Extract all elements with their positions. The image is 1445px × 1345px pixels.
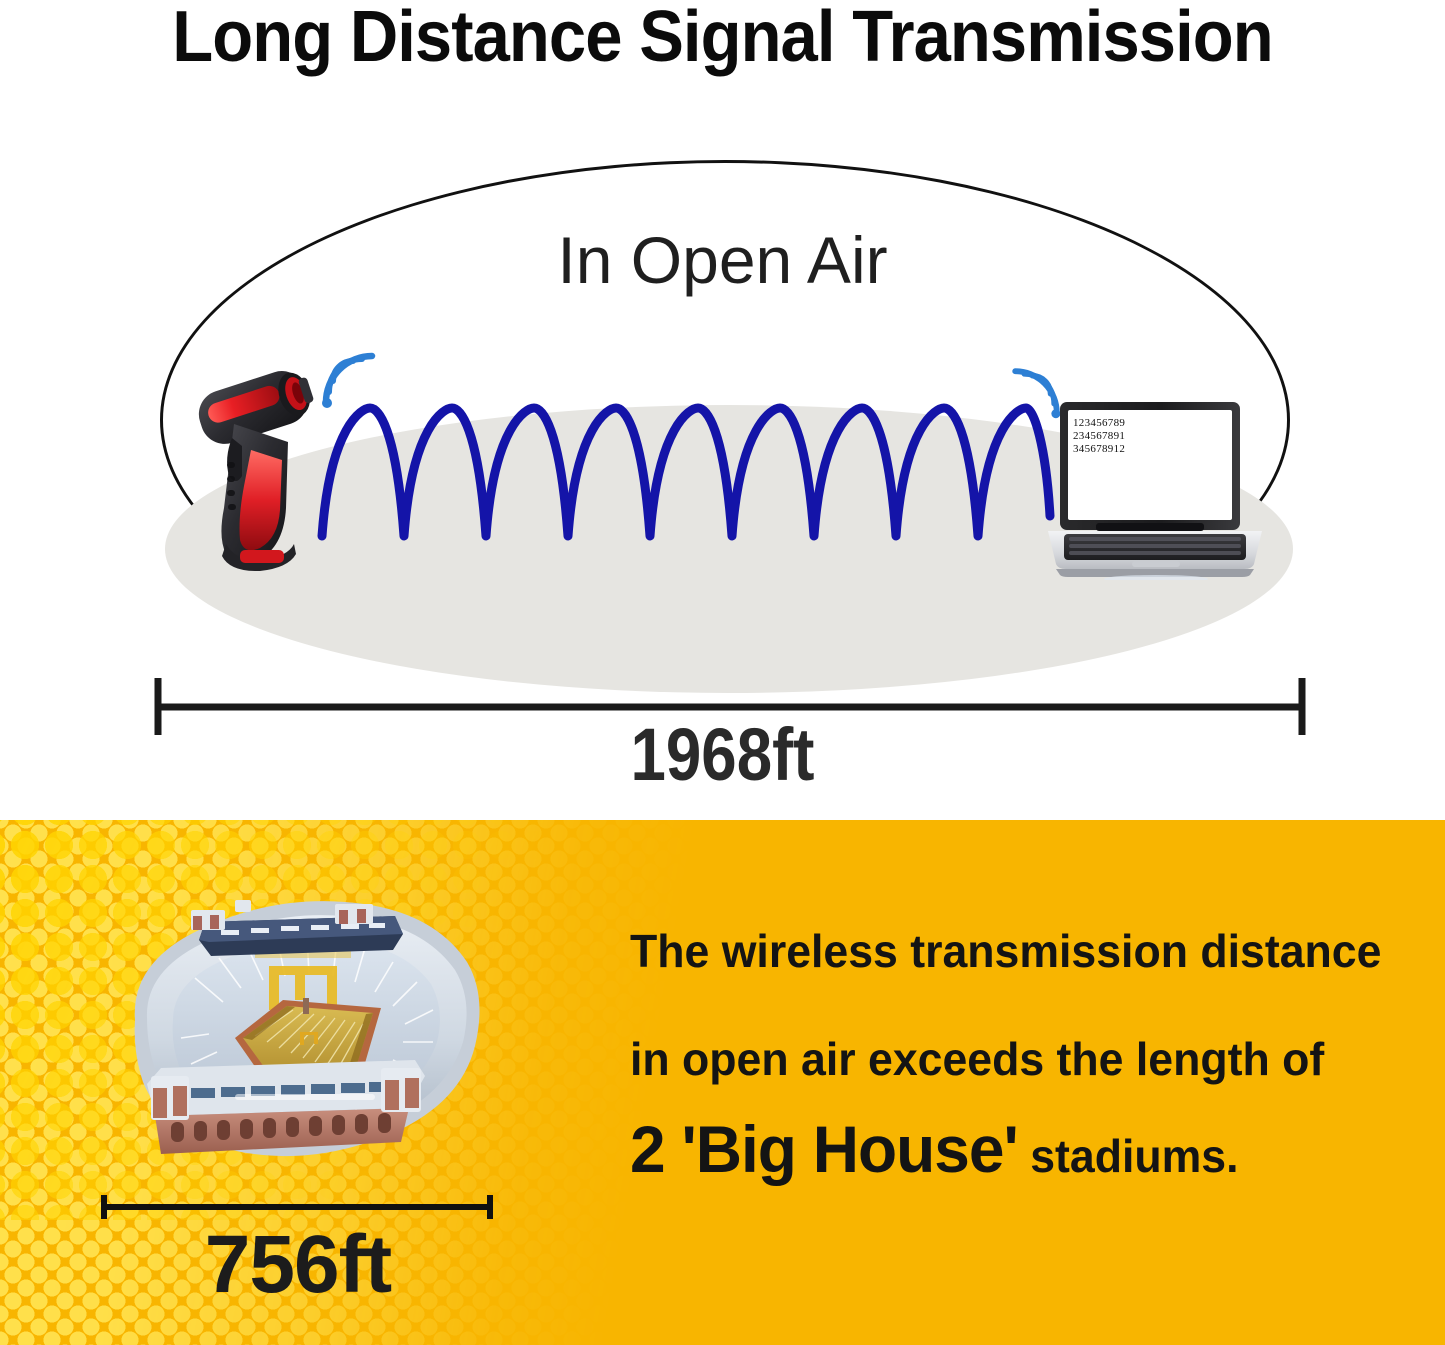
open-air-label: In Open Air (0, 222, 1445, 298)
comparison-emphasis: 2 'Big House' (630, 1112, 1018, 1186)
distance-value-open-air: 1968ft (101, 712, 1344, 797)
comparison-text-line-3: 2 'Big House' stadiums. (630, 1126, 1396, 1179)
distance-value-stadium: 756ft (98, 1218, 498, 1312)
sine-wave-icon (316, 386, 1056, 546)
laptop-screen-line: 123456789 (1073, 417, 1125, 430)
comparison-text: The wireless transmission distance in op… (630, 928, 1420, 1179)
laptop-screen-content: 123456789 234567891 345678912 (1073, 417, 1125, 456)
laptop-screen-line: 345678912 (1073, 443, 1125, 456)
comparison-text-line-1: The wireless transmission distance (630, 928, 1396, 974)
barcode-scanner-icon (196, 358, 331, 573)
infographic-root: Long Distance Signal Transmission In Ope… (0, 0, 1445, 1345)
comparison-text-line-2: in open air exceeds the length of (630, 1036, 1396, 1082)
michigan-stadium-icon (95, 870, 500, 1180)
open-air-scene: In Open Air (0, 0, 1445, 820)
laptop-screen-line: 234567891 (1073, 430, 1125, 443)
comparison-suffix: stadiums. (1030, 1130, 1238, 1182)
